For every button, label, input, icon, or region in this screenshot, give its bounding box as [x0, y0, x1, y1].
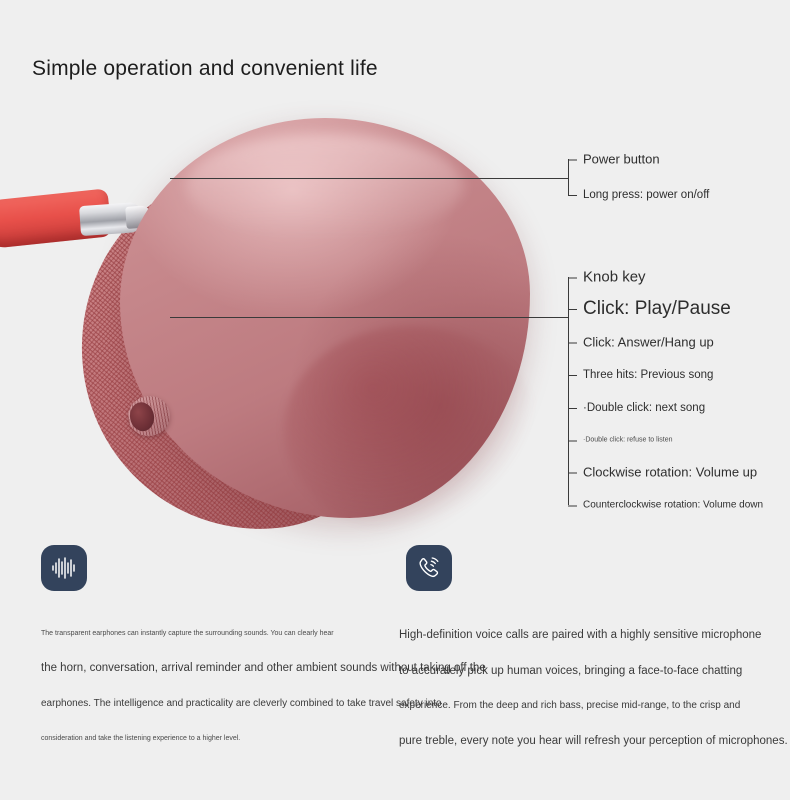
feature-text-transparency: The transparent earphones can instantly … — [41, 630, 361, 742]
callout-tick — [568, 375, 577, 376]
callout-tick — [568, 309, 577, 310]
callout-click-play-pause: Click: Play/Pause — [577, 298, 731, 320]
paragraph-line: consideration and take the listening exp… — [41, 735, 361, 742]
paragraph-line: pure treble, every note you hear will re… — [399, 736, 739, 748]
ear-cup-highlight — [186, 134, 465, 238]
product-image — [0, 100, 600, 540]
callout-counterclockwise-volume-down: Counterclockwise rotation: Volume down — [577, 500, 763, 511]
callout-tick — [568, 505, 577, 506]
callout-tick — [568, 342, 577, 343]
callout-tick — [568, 277, 577, 278]
callout-tick — [568, 440, 577, 441]
feature-text-voice-call: High-definition voice calls are paired w… — [399, 630, 739, 748]
callout-tick — [568, 159, 577, 160]
callout-power-button: Power button — [577, 152, 660, 167]
callout-tick — [568, 195, 577, 196]
knob-face — [128, 400, 157, 433]
leader-line-knob — [170, 317, 568, 318]
callout-knob-key: Knob key — [577, 269, 646, 286]
feature-icon-transparency — [41, 545, 87, 591]
audio-waveform-icon — [51, 557, 77, 579]
paragraph-line: High-definition voice calls are paired w… — [399, 630, 739, 642]
callout-tick — [568, 408, 577, 409]
paragraph-line: experience. From the deep and rich bass,… — [399, 701, 739, 711]
paragraph-line: to accurately pick up human voices, brin… — [399, 666, 739, 678]
paragraph-line: the horn, conversation, arrival reminder… — [41, 663, 361, 675]
paragraph-line: The transparent earphones can instantly … — [41, 630, 361, 637]
feature-icon-voice-call — [406, 545, 452, 591]
callout-click-answer-hangup: Click: Answer/Hang up — [577, 335, 714, 350]
telescoping-arm — [79, 202, 143, 236]
page-title: Simple operation and convenient life — [32, 57, 378, 81]
paragraph-line: earphones. The intelligence and practica… — [41, 699, 361, 709]
callout-tick — [568, 472, 577, 473]
callout-three-hits-previous: Three hits: Previous song — [577, 369, 713, 381]
callout-double-click-next: ·Double click: next song — [577, 402, 705, 414]
phone-call-icon — [416, 555, 442, 581]
callout-clockwise-volume-up: Clockwise rotation: Volume up — [577, 465, 757, 480]
callout-double-click-refuse: ·Double click: refuse to listen — [577, 437, 672, 444]
leader-line-power — [170, 178, 568, 179]
callout-long-press: Long press: power on/off — [577, 189, 709, 201]
ear-cup-shadow — [284, 326, 538, 534]
